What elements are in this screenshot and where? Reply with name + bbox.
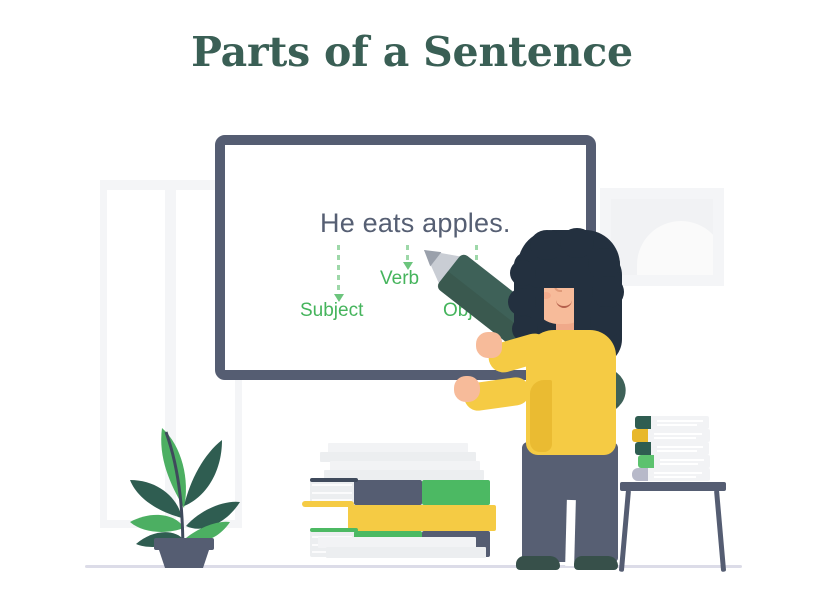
character-hand-lower: [454, 376, 480, 402]
page-line: [657, 420, 703, 422]
arrow-to-verb: [406, 245, 409, 263]
book-spine: [635, 416, 651, 429]
book-on-stool: [635, 442, 709, 455]
stool-top: [620, 482, 726, 491]
character-hair-curl: [530, 230, 564, 260]
stool-with-books: [620, 410, 726, 570]
page-title: Parts of a Sentence: [0, 28, 824, 76]
character-hair-curl: [560, 228, 594, 258]
book-pages: [649, 442, 709, 455]
illustration-canvas: Parts of a Sentence He eats apples. Subj…: [0, 0, 824, 610]
book-pages: [646, 468, 710, 481]
page-line: [654, 433, 702, 435]
plant-pot: [159, 550, 209, 568]
character-shoe-right: [574, 556, 618, 570]
book-spine: [632, 429, 648, 442]
artwork-hill-near: [637, 221, 713, 275]
book-pages: [312, 506, 350, 530]
plant-leaf: [184, 440, 222, 506]
character-leg-gap: [565, 500, 576, 566]
label-subject: Subject: [300, 300, 363, 322]
book-spine: [302, 501, 354, 507]
plant-pot-rim: [154, 538, 214, 550]
page-line: [660, 459, 704, 461]
character-hair-curl: [510, 260, 536, 286]
book-pages: [646, 429, 710, 442]
page-line: [657, 424, 697, 426]
page-line: [312, 492, 352, 494]
character-shoe-left: [516, 556, 560, 570]
character-hair-curl: [508, 288, 536, 316]
book-cover-left: [354, 480, 422, 505]
page-line: [654, 476, 696, 478]
book-on-stool: [638, 455, 710, 468]
book-pages: [652, 455, 710, 468]
potted-plant: [126, 388, 242, 568]
page-line: [660, 463, 698, 465]
page-line: [654, 472, 702, 474]
page-line: [312, 484, 352, 486]
stool-leg-right: [714, 490, 726, 572]
book-spine: [632, 468, 648, 481]
book-spine-top: [310, 478, 358, 482]
character-woman: [470, 230, 645, 570]
arrow-to-subject: [337, 245, 340, 295]
page-line: [657, 446, 703, 448]
stool-leg-left: [619, 490, 631, 572]
character-sweater-shading: [530, 380, 552, 452]
book-spine: [638, 455, 654, 468]
plant-leaf: [130, 515, 184, 532]
page-line: [654, 437, 696, 439]
character-hand-upper: [476, 332, 502, 358]
book-pages: [649, 416, 709, 429]
book-spine-top: [310, 528, 358, 532]
label-verb: Verb: [380, 268, 419, 290]
paper-sheet: [326, 547, 486, 558]
book-on-stool: [635, 416, 709, 429]
book-spine: [635, 442, 651, 455]
book-on-stool: [632, 429, 710, 442]
page-line: [657, 450, 697, 452]
character-hair-curl: [592, 276, 624, 308]
character-hair-curl: [588, 248, 620, 280]
book-on-stool: [632, 468, 710, 481]
stack-of-books-floor: [310, 443, 496, 561]
